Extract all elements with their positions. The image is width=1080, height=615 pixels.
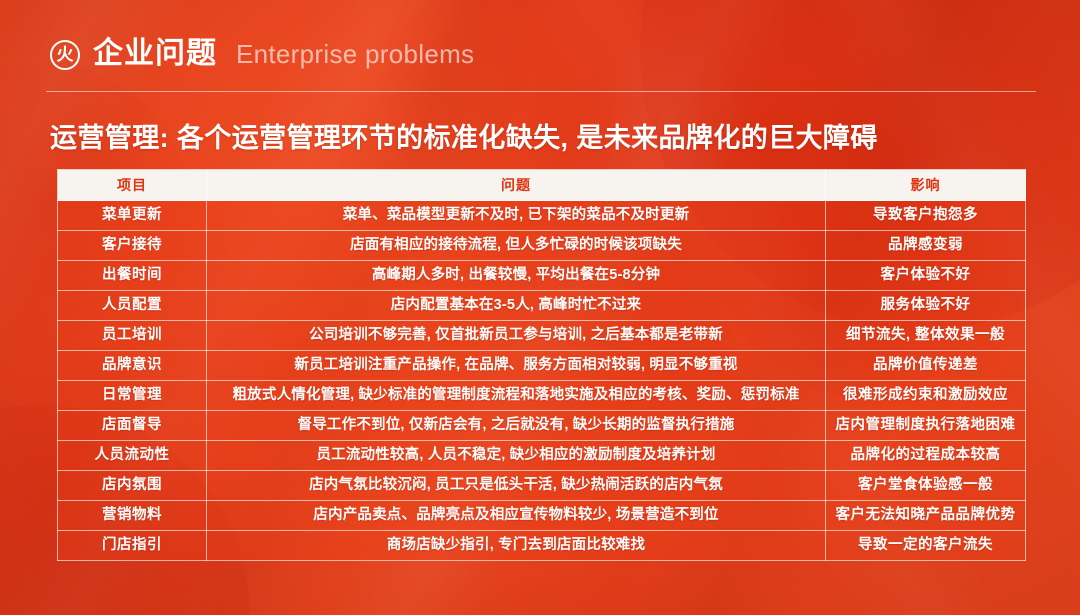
cell-impact: 店内管理制度执行落地困难 xyxy=(826,411,1026,441)
cell-impact: 导致客户抱怨多 xyxy=(826,201,1026,231)
table-header: 项目 问题 影响 xyxy=(58,170,1026,201)
cell-impact: 很难形成约束和激励效应 xyxy=(826,381,1026,411)
cell-issue: 高峰期人多时, 出餐较慢, 平均出餐在5-8分钟 xyxy=(207,261,826,291)
cell-impact: 客户体验不好 xyxy=(826,261,1026,291)
table-row: 人员配置店内配置基本在3-5人, 高峰时忙不过来服务体验不好 xyxy=(58,291,1026,321)
cell-item: 客户接待 xyxy=(58,231,207,261)
cell-item: 日常管理 xyxy=(58,381,207,411)
cell-item: 人员配置 xyxy=(58,291,207,321)
cell-issue: 店内配置基本在3-5人, 高峰时忙不过来 xyxy=(207,291,826,321)
table-row: 店内氛围店内气氛比较沉闷, 员工只是低头干活, 缺少热闹活跃的店内气氛客户堂食体… xyxy=(58,471,1026,501)
table-row: 菜单更新菜单、菜品模型更新不及时, 已下架的菜品不及时更新导致客户抱怨多 xyxy=(58,201,1026,231)
header-divider xyxy=(46,91,1036,92)
column-header-issue: 问题 xyxy=(207,170,826,201)
page-title: 运营管理: 各个运营管理环节的标准化缺失, 是未来品牌化的巨大障碍 xyxy=(50,124,878,154)
fire-glyph: 火 xyxy=(57,47,74,64)
cell-item: 菜单更新 xyxy=(58,201,207,231)
cell-impact: 客户无法知晓产品品牌优势 xyxy=(826,501,1026,531)
table-row: 出餐时间高峰期人多时, 出餐较慢, 平均出餐在5-8分钟客户体验不好 xyxy=(58,261,1026,291)
cell-impact: 服务体验不好 xyxy=(826,291,1026,321)
table-row: 人员流动性员工流动性较高, 人员不稳定, 缺少相应的激励制度及培养计划品牌化的过… xyxy=(58,441,1026,471)
cell-issue: 新员工培训注重产品操作, 在品牌、服务方面相对较弱, 明显不够重视 xyxy=(207,351,826,381)
table-row: 员工培训公司培训不够完善, 仅首批新员工参与培训, 之后基本都是老带新细节流失,… xyxy=(58,321,1026,351)
table-row: 店面督导督导工作不到位, 仅新店会有, 之后就没有, 缺少长期的监督执行措施店内… xyxy=(58,411,1026,441)
cell-issue: 店内产品卖点、品牌亮点及相应宣传物料较少, 场景营造不到位 xyxy=(207,501,826,531)
cell-item: 人员流动性 xyxy=(58,441,207,471)
cell-impact: 品牌价值传递差 xyxy=(826,351,1026,381)
issues-table: 项目 问题 影响 菜单更新菜单、菜品模型更新不及时, 已下架的菜品不及时更新导致… xyxy=(57,169,1026,561)
column-header-impact: 影响 xyxy=(826,170,1026,201)
column-header-item: 项目 xyxy=(58,170,207,201)
cell-item: 营销物料 xyxy=(58,501,207,531)
cell-issue: 粗放式人情化管理, 缺少标准的管理制度流程和落地实施及相应的考核、奖励、惩罚标准 xyxy=(207,381,826,411)
cell-item: 店内氛围 xyxy=(58,471,207,501)
cell-impact: 品牌化的过程成本较高 xyxy=(826,441,1026,471)
cell-impact: 导致一定的客户流失 xyxy=(826,531,1026,561)
cell-issue: 督导工作不到位, 仅新店会有, 之后就没有, 缺少长期的监督执行措施 xyxy=(207,411,826,441)
cell-impact: 客户堂食体验感一般 xyxy=(826,471,1026,501)
table-row: 营销物料店内产品卖点、品牌亮点及相应宣传物料较少, 场景营造不到位客户无法知晓产… xyxy=(58,501,1026,531)
cell-impact: 细节流失, 整体效果一般 xyxy=(826,321,1026,351)
table-row: 日常管理粗放式人情化管理, 缺少标准的管理制度流程和落地实施及相应的考核、奖励、… xyxy=(58,381,1026,411)
cell-issue: 店面有相应的接待流程, 但人多忙碌的时候该项缺失 xyxy=(207,231,826,261)
cell-issue: 员工流动性较高, 人员不稳定, 缺少相应的激励制度及培养计划 xyxy=(207,441,826,471)
slide: 火 企业问题 Enterprise problems 运营管理: 各个运营管理环… xyxy=(0,0,1080,615)
cell-impact: 品牌感变弱 xyxy=(826,231,1026,261)
cell-issue: 商场店缺少指引, 专门去到店面比较难找 xyxy=(207,531,826,561)
cell-issue: 公司培训不够完善, 仅首批新员工参与培训, 之后基本都是老带新 xyxy=(207,321,826,351)
header-title-cn: 企业问题 xyxy=(93,39,217,69)
table-header-row: 项目 问题 影响 xyxy=(58,170,1026,201)
cell-issue: 菜单、菜品模型更新不及时, 已下架的菜品不及时更新 xyxy=(207,201,826,231)
table-body: 菜单更新菜单、菜品模型更新不及时, 已下架的菜品不及时更新导致客户抱怨多客户接待… xyxy=(58,201,1026,561)
slide-header: 火 企业问题 Enterprise problems xyxy=(50,32,474,76)
fire-circle-icon: 火 xyxy=(50,40,80,70)
cell-item: 门店指引 xyxy=(58,531,207,561)
table-row: 客户接待店面有相应的接待流程, 但人多忙碌的时候该项缺失品牌感变弱 xyxy=(58,231,1026,261)
cell-item: 店面督导 xyxy=(58,411,207,441)
cell-item: 出餐时间 xyxy=(58,261,207,291)
header-title-en: Enterprise problems xyxy=(236,41,474,67)
table-row: 门店指引商场店缺少指引, 专门去到店面比较难找导致一定的客户流失 xyxy=(58,531,1026,561)
cell-item: 员工培训 xyxy=(58,321,207,351)
cell-item: 品牌意识 xyxy=(58,351,207,381)
cell-issue: 店内气氛比较沉闷, 员工只是低头干活, 缺少热闹活跃的店内气氛 xyxy=(207,471,826,501)
table-row: 品牌意识新员工培训注重产品操作, 在品牌、服务方面相对较弱, 明显不够重视品牌价… xyxy=(58,351,1026,381)
